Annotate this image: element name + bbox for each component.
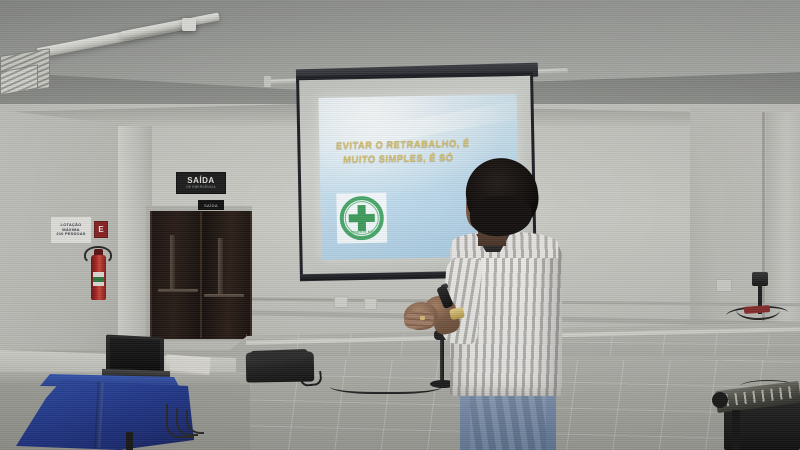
light-end-cap bbox=[182, 18, 196, 31]
cipa-logo-top-text: CIPA bbox=[342, 196, 380, 202]
door-handle-left[interactable] bbox=[158, 289, 198, 292]
presenter-jeans-folds bbox=[470, 396, 546, 450]
cipa-logo-bottom-text: ACIDENTE NÃO bbox=[341, 230, 383, 235]
door-exit-plate: SAÍDA bbox=[198, 200, 224, 210]
table-leg bbox=[126, 432, 133, 450]
green-cross-icon-bar bbox=[349, 214, 375, 222]
stage-cable bbox=[330, 376, 442, 394]
fire-extinguisher-sign: E bbox=[94, 221, 108, 238]
door-push-bar-right[interactable] bbox=[218, 238, 223, 294]
wall-outlet bbox=[334, 296, 348, 308]
extinguisher-label-band bbox=[93, 277, 104, 282]
wall-outlet bbox=[716, 279, 732, 292]
door-exit-plate-label: SAÍDA bbox=[204, 203, 218, 208]
photo-scene: SAÍDA DE EMERGÊNCIA LOTAÇÃO MÁXIMA 210 P… bbox=[0, 0, 800, 450]
ceiling-rail-end bbox=[264, 76, 271, 87]
door-push-bar-left[interactable] bbox=[170, 235, 175, 291]
mixer-stand-clamp bbox=[712, 392, 728, 408]
laptop-display bbox=[110, 338, 160, 372]
wall-outlet bbox=[364, 298, 377, 310]
door-handle-right[interactable] bbox=[204, 294, 244, 297]
capacity-line-3: 210 PESSOAS bbox=[56, 232, 85, 237]
exit-sign-sublabel: DE EMERGÊNCIA bbox=[186, 186, 215, 189]
mixer-stand-leg bbox=[732, 410, 740, 450]
slide-text-line-1: EVITAR O RETRABALHO, É bbox=[336, 138, 470, 152]
exit-sign-label: SAÍDA bbox=[187, 177, 214, 185]
presenter-ring bbox=[420, 316, 425, 320]
fire-extinguisher-sign-label: E bbox=[98, 226, 103, 234]
capacity-sign: LOTAÇÃO MÁXIMA 210 PESSOAS bbox=[50, 216, 92, 244]
door-split-line bbox=[200, 212, 202, 338]
exit-sign: SAÍDA DE EMERGÊNCIA bbox=[176, 172, 226, 194]
microphone-stand-pole bbox=[440, 336, 444, 384]
